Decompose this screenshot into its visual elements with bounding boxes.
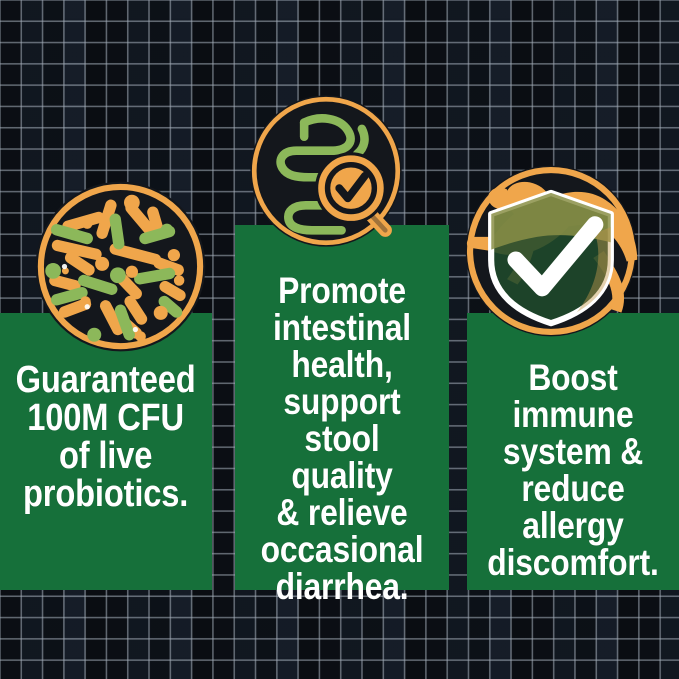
dog-shield-check-icon <box>463 163 639 339</box>
benefit-text-immune-allergy: Boost immune system & reduce allergy dis… <box>482 313 664 581</box>
probiotic-bacteria-icon <box>33 179 208 354</box>
intestine-magnifier-icon <box>248 93 404 249</box>
benefit-panel-guaranteed-cfu: Guaranteed 100M CFU of live probiotics. <box>0 313 212 590</box>
infographic-canvas: Guaranteed 100M CFU of live probiotics. … <box>0 0 679 679</box>
benefit-text-intestinal-health: Promote intestinal health, support stool… <box>250 225 434 605</box>
benefit-panel-immune-allergy: Boost immune system & reduce allergy dis… <box>467 313 679 590</box>
benefit-panel-intestinal-health: Promote intestinal health, support stool… <box>235 225 449 590</box>
